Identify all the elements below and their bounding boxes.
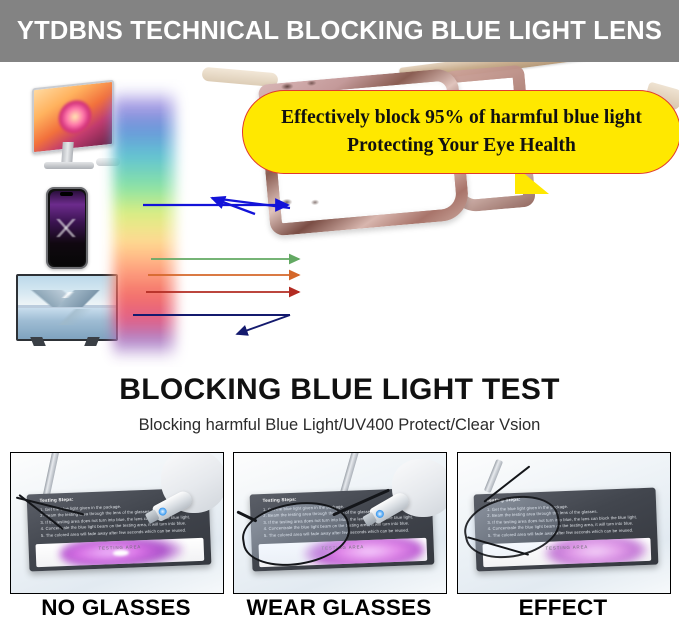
monitor-stand-base xyxy=(44,162,94,169)
phone-notch xyxy=(60,192,73,196)
panel-caption-effect: EFFECT xyxy=(457,595,669,621)
panel-wear-glasses: Testing Steps: 1. Get the blue light giv… xyxy=(233,452,447,594)
desktop-monitor-icon xyxy=(22,82,114,182)
panel-effect: Testing Steps: 1. Get the blue light giv… xyxy=(457,452,671,594)
smartphone-icon xyxy=(46,187,88,269)
panel-caption-wear-glasses: WEAR GLASSES xyxy=(233,595,445,621)
monitor-stand-neck xyxy=(61,142,74,164)
test-panel-group: Testing Steps: 1. Get the blue light giv… xyxy=(0,452,679,635)
tv-stand-right xyxy=(84,337,100,346)
phone-screen-artwork xyxy=(55,219,77,237)
bubble-line-2: Protecting Your Eye Health xyxy=(347,132,576,160)
testing-area-strip: TESTING AREA xyxy=(36,538,204,568)
header-bar: YTDBNS TECHNICAL BLOCKING BLUE LIGHT LEN… xyxy=(0,0,679,62)
card-title: Testing Steps: xyxy=(262,496,296,502)
card-title: Testing Steps: xyxy=(39,496,73,502)
panel-no-glasses: Testing Steps: 1. Get the blue light giv… xyxy=(10,452,224,594)
speech-bubble: Effectively block 95% of harmful blue li… xyxy=(242,90,679,174)
tv-screen xyxy=(16,274,118,341)
panel-caption-no-glasses: NO GLASSES xyxy=(10,595,222,621)
monitor-screen-artwork xyxy=(58,98,92,136)
section-subtitle: Blocking harmful Blue Light/UV400 Protec… xyxy=(0,416,679,436)
tv-artwork-snow xyxy=(36,292,99,298)
tv-artwork-reflection xyxy=(18,309,116,325)
section-title: BLOCKING BLUE LIGHT TEST xyxy=(0,373,679,406)
page-title: YTDBNS TECHNICAL BLOCKING BLUE LIGHT LEN… xyxy=(17,17,662,46)
television-icon xyxy=(16,274,114,354)
bubble-line-1: Effectively block 95% of harmful blue li… xyxy=(281,104,642,132)
torch-led xyxy=(374,508,385,519)
device-group xyxy=(16,82,114,357)
spectrum-fade-mask xyxy=(160,82,202,366)
torch-led xyxy=(157,506,168,517)
mid-section: BLOCKING BLUE LIGHT TEST Blocking harmfu… xyxy=(0,367,679,452)
